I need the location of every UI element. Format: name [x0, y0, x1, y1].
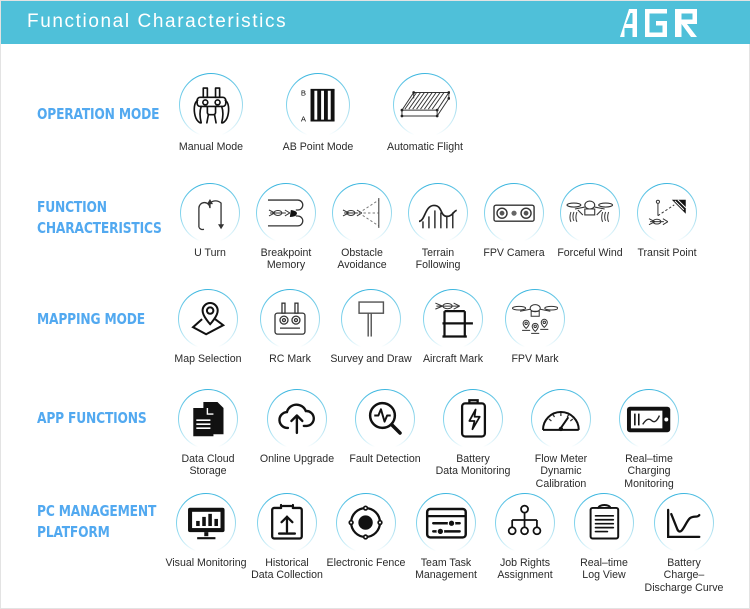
feature-caption: Real–time Log View: [562, 557, 646, 582]
breakpoint-memory-icon: [256, 183, 316, 243]
monitor-barchart-icon: [176, 493, 236, 553]
feature-item-obstacle-avoidance[interactable]: Obstacle Avoidance: [324, 183, 400, 272]
feature-item-fpv-mark[interactable]: FPV Mark: [494, 289, 576, 365]
feature-item-survey-marker[interactable]: Survey and Draw: [330, 289, 412, 365]
battery-bolt-icon: [443, 389, 503, 449]
section-row-4: APP FUNCTIONS Data Cloud Storage Online …: [1, 379, 750, 479]
feature-caption: Obstacle Avoidance: [324, 247, 400, 272]
remote-controller-icon: [260, 289, 320, 349]
section-row-3: MAPPING MODE Map Selection RC Mark Surve…: [1, 276, 750, 376]
feature-item-monitor-barchart[interactable]: Visual Monitoring: [164, 493, 248, 569]
section-row-2: FUNCTION CHARACTERISTICS U Turn Breakpoi…: [1, 171, 750, 271]
task-card-icon: [416, 493, 476, 553]
feature-item-battery-bolt[interactable]: Battery Data Monitoring: [427, 389, 519, 478]
feature-item-automatic-flight-grid[interactable]: Automatic Flight: [371, 73, 479, 153]
feature-item-phone-chart[interactable]: Real–time Charging Monitoring: [603, 389, 695, 490]
feature-caption: Battery Charge–Discharge Curve: [642, 557, 726, 594]
feature-caption: Transit Point: [629, 247, 705, 259]
feature-item-ab-point-path[interactable]: B A AB Point Mode: [264, 73, 372, 153]
feature-item-map-pin[interactable]: Map Selection: [167, 289, 249, 365]
clipboard-lines-icon: [574, 493, 634, 553]
section-label: OPERATION MODE: [37, 104, 159, 125]
section-label: FUNCTION CHARACTERISTICS: [37, 197, 162, 239]
cloud-upload-icon: [267, 389, 327, 449]
section-row-5: PC MANAGEMENT PLATFORM Visual Monitoring…: [1, 483, 750, 583]
feature-caption: Job Rights Assignment: [483, 557, 567, 582]
pulse-magnifier-icon: [355, 389, 415, 449]
obstacle-avoidance-icon: [332, 183, 392, 243]
feature-caption: AB Point Mode: [264, 141, 372, 153]
section-row-1: OPERATION MODE Manual Mode B A AB Point …: [1, 53, 750, 153]
feature-item-terrain-following[interactable]: Terrain Following: [400, 183, 476, 272]
feature-caption: Map Selection: [167, 353, 249, 365]
feature-caption: Survey and Draw: [330, 353, 412, 365]
feature-item-aircraft-mark-grid[interactable]: Aircraft Mark: [412, 289, 494, 365]
feature-item-clipboard-upload[interactable]: Historical Data Collection: [245, 493, 329, 582]
clipboard-upload-icon: [257, 493, 317, 553]
feature-item-documents-stack[interactable]: Data Cloud Storage: [162, 389, 254, 478]
fpv-mark-icon: [505, 289, 565, 349]
page-title: Functional Characteristics: [27, 11, 287, 33]
feature-caption: RC Mark: [249, 353, 331, 365]
ab-point-path-icon: B A: [286, 73, 350, 137]
feature-item-remote-controller[interactable]: RC Mark: [249, 289, 331, 365]
feature-item-clipboard-lines[interactable]: Real–time Log View: [562, 493, 646, 582]
feature-item-hands-on-controller[interactable]: Manual Mode: [157, 73, 265, 153]
feature-caption: Online Upgrade: [251, 453, 343, 465]
feature-caption: Data Cloud Storage: [162, 453, 254, 478]
curve-chart-icon: [654, 493, 714, 553]
feature-caption: Forceful Wind: [552, 247, 628, 259]
feature-item-task-card[interactable]: Team Task Management: [404, 493, 488, 582]
feature-item-cloud-upload[interactable]: Online Upgrade: [251, 389, 343, 465]
survey-marker-icon: [341, 289, 401, 349]
terrain-following-icon: [408, 183, 468, 243]
feature-caption: Aircraft Mark: [412, 353, 494, 365]
feature-caption: Terrain Following: [400, 247, 476, 272]
feature-caption: Automatic Flight: [371, 141, 479, 153]
feature-caption: Historical Data Collection: [245, 557, 329, 582]
feature-item-u-turn-arrow[interactable]: U Turn: [172, 183, 248, 259]
header-bar: Functional Characteristics: [1, 1, 750, 44]
feature-caption: Manual Mode: [157, 141, 265, 153]
feature-item-gauge[interactable]: Flow Meter Dynamic Calibration: [515, 389, 607, 490]
section-label: APP FUNCTIONS: [37, 408, 147, 429]
feature-item-pulse-magnifier[interactable]: Fault Detection: [339, 389, 431, 465]
feature-item-curve-chart[interactable]: Battery Charge–Discharge Curve: [642, 493, 726, 594]
agr-logo-icon: [617, 7, 729, 39]
feature-caption: FPV Camera: [476, 247, 552, 259]
section-label: PC MANAGEMENT PLATFORM: [37, 501, 156, 543]
feature-item-breakpoint-memory[interactable]: Breakpoint Memory: [248, 183, 324, 272]
feature-item-electronic-fence[interactable]: Electronic Fence: [324, 493, 408, 569]
feature-caption: Fault Detection: [339, 453, 431, 465]
hands-on-controller-icon: [179, 73, 243, 137]
feature-caption: U Turn: [172, 247, 248, 259]
documents-stack-icon: [178, 389, 238, 449]
automatic-flight-grid-icon: [393, 73, 457, 137]
aircraft-mark-grid-icon: [423, 289, 483, 349]
feature-caption: Battery Data Monitoring: [427, 453, 519, 478]
feature-caption: Breakpoint Memory: [248, 247, 324, 272]
fpv-camera-icon: [484, 183, 544, 243]
feature-caption: FPV Mark: [494, 353, 576, 365]
forceful-wind-drone-icon: [560, 183, 620, 243]
transit-point-icon: [637, 183, 697, 243]
hierarchy-icon: [495, 493, 555, 553]
feature-item-forceful-wind-drone[interactable]: Forceful Wind: [552, 183, 628, 259]
feature-caption: Team Task Management: [404, 557, 488, 582]
feature-caption: Visual Monitoring: [164, 557, 248, 569]
svg-text:B: B: [301, 88, 306, 97]
feature-item-hierarchy[interactable]: Job Rights Assignment: [483, 493, 567, 582]
phone-chart-icon: [619, 389, 679, 449]
gauge-icon: [531, 389, 591, 449]
feature-item-transit-point[interactable]: Transit Point: [629, 183, 705, 259]
u-turn-arrow-icon: [180, 183, 240, 243]
map-pin-icon: [178, 289, 238, 349]
svg-text:A: A: [301, 114, 307, 123]
feature-item-fpv-camera[interactable]: FPV Camera: [476, 183, 552, 259]
electronic-fence-icon: [336, 493, 396, 553]
feature-caption: Electronic Fence: [324, 557, 408, 569]
section-label: MAPPING MODE: [37, 309, 145, 330]
